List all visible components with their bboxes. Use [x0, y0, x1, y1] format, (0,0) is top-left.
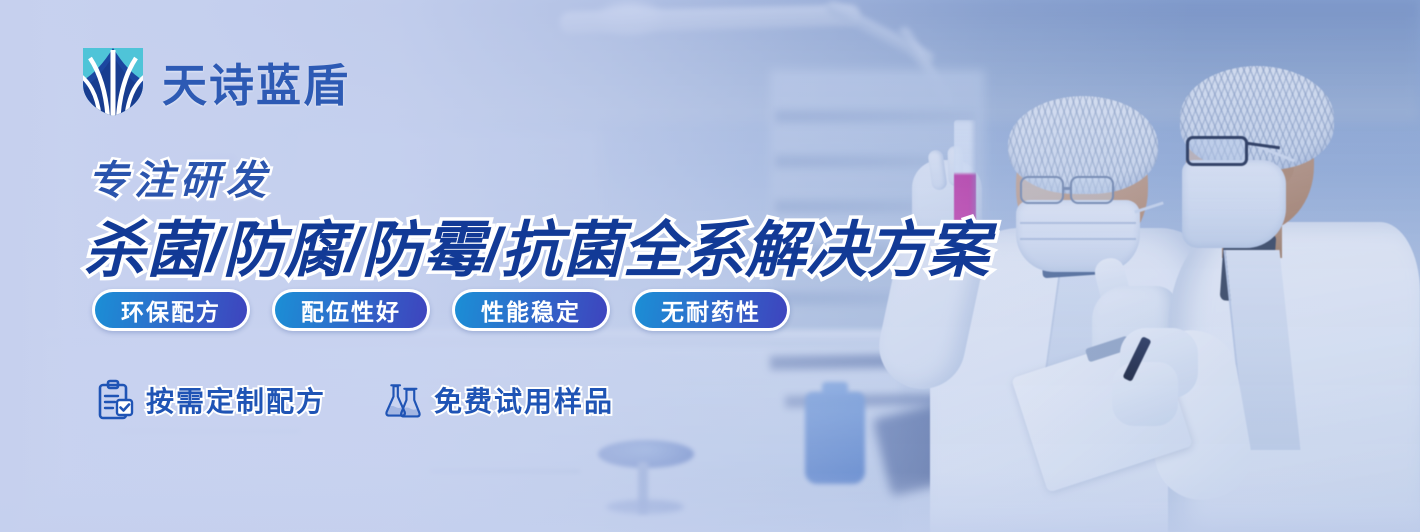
badge-compatibility[interactable]: 配伍性好 — [272, 289, 430, 331]
service-feature-list: 按需定制配方 免费试用样品 — [96, 379, 614, 421]
hero-content: 天诗蓝盾 专注研发 杀菌/防腐/防霉/抗菌全系解决方案 环保配方 配伍性好 性能… — [0, 0, 1420, 532]
badge-no-resistance[interactable]: 无耐药性 — [632, 289, 790, 331]
hero-subheading: 专注研发 — [88, 148, 272, 206]
flask-beaker-icon — [384, 379, 422, 421]
feature-free-sample[interactable]: 免费试用样品 — [384, 379, 614, 421]
feature-badge-list: 环保配方 配伍性好 性能稳定 无耐药性 — [92, 289, 790, 331]
hero-headline: 杀菌/防腐/防霉/抗菌全系解决方案 — [84, 200, 989, 289]
badge-stable-performance[interactable]: 性能稳定 — [452, 289, 610, 331]
shield-logo-icon — [80, 44, 146, 118]
badge-eco-formula[interactable]: 环保配方 — [92, 289, 250, 331]
feature-custom-formula[interactable]: 按需定制配方 — [96, 379, 326, 421]
clipboard-check-icon — [96, 379, 134, 421]
brand-logo[interactable]: 天诗蓝盾 — [80, 44, 350, 118]
brand-name: 天诗蓝盾 — [162, 49, 350, 114]
feature-label: 按需定制配方 — [146, 380, 326, 420]
hero-banner: 天诗蓝盾 专注研发 杀菌/防腐/防霉/抗菌全系解决方案 环保配方 配伍性好 性能… — [0, 0, 1420, 532]
feature-label: 免费试用样品 — [434, 380, 614, 420]
